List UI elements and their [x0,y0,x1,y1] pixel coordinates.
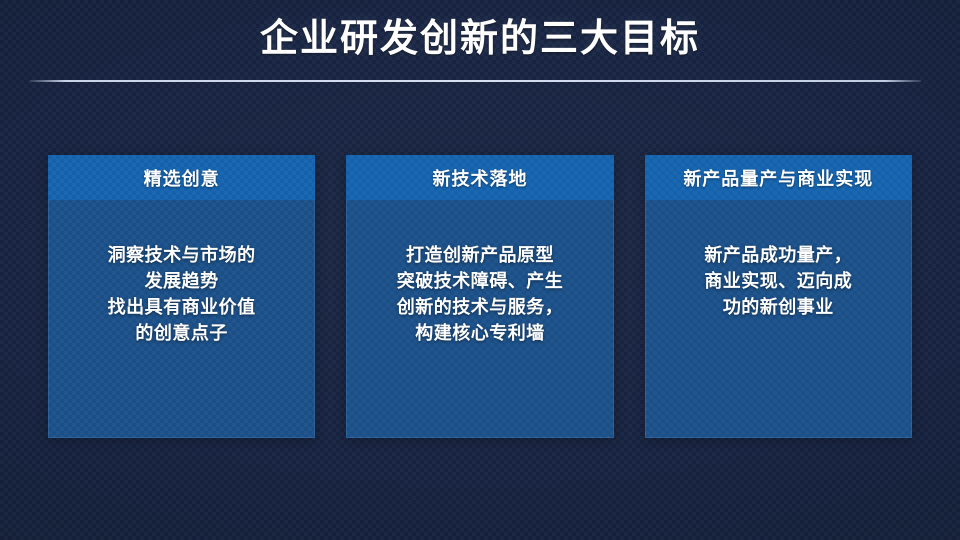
goal-cards-container: 精选创意 洞察技术与市场的 发展趋势 找出具有商业价值 的创意点子 新技术落地 … [48,155,912,438]
title-divider [30,80,921,82]
goal-card-1-body: 洞察技术与市场的 发展趋势 找出具有商业价值 的创意点子 [48,200,315,438]
goal-card-1-header: 精选创意 [48,155,315,200]
goal-card-1[interactable]: 精选创意 洞察技术与市场的 发展趋势 找出具有商业价值 的创意点子 [48,155,315,438]
goal-card-2-body: 打造创新产品原型 突破技术障碍、产生 创新的技术与服务， 构建核心专利墙 [346,200,613,438]
page-title: 企业研发创新的三大目标 [0,14,960,64]
slide-canvas: 企业研发创新的三大目标 精选创意 洞察技术与市场的 发展趋势 找出具有商业价值 … [0,0,960,540]
goal-card-3[interactable]: 新产品量产与商业实现 新产品成功量产， 商业实现、迈向成 功的新创事业 [645,155,912,438]
goal-card-2[interactable]: 新技术落地 打造创新产品原型 突破技术障碍、产生 创新的技术与服务， 构建核心专… [346,155,613,438]
goal-card-3-body: 新产品成功量产， 商业实现、迈向成 功的新创事业 [645,200,912,438]
goal-card-3-header: 新产品量产与商业实现 [645,155,912,200]
goal-card-2-header: 新技术落地 [346,155,613,200]
